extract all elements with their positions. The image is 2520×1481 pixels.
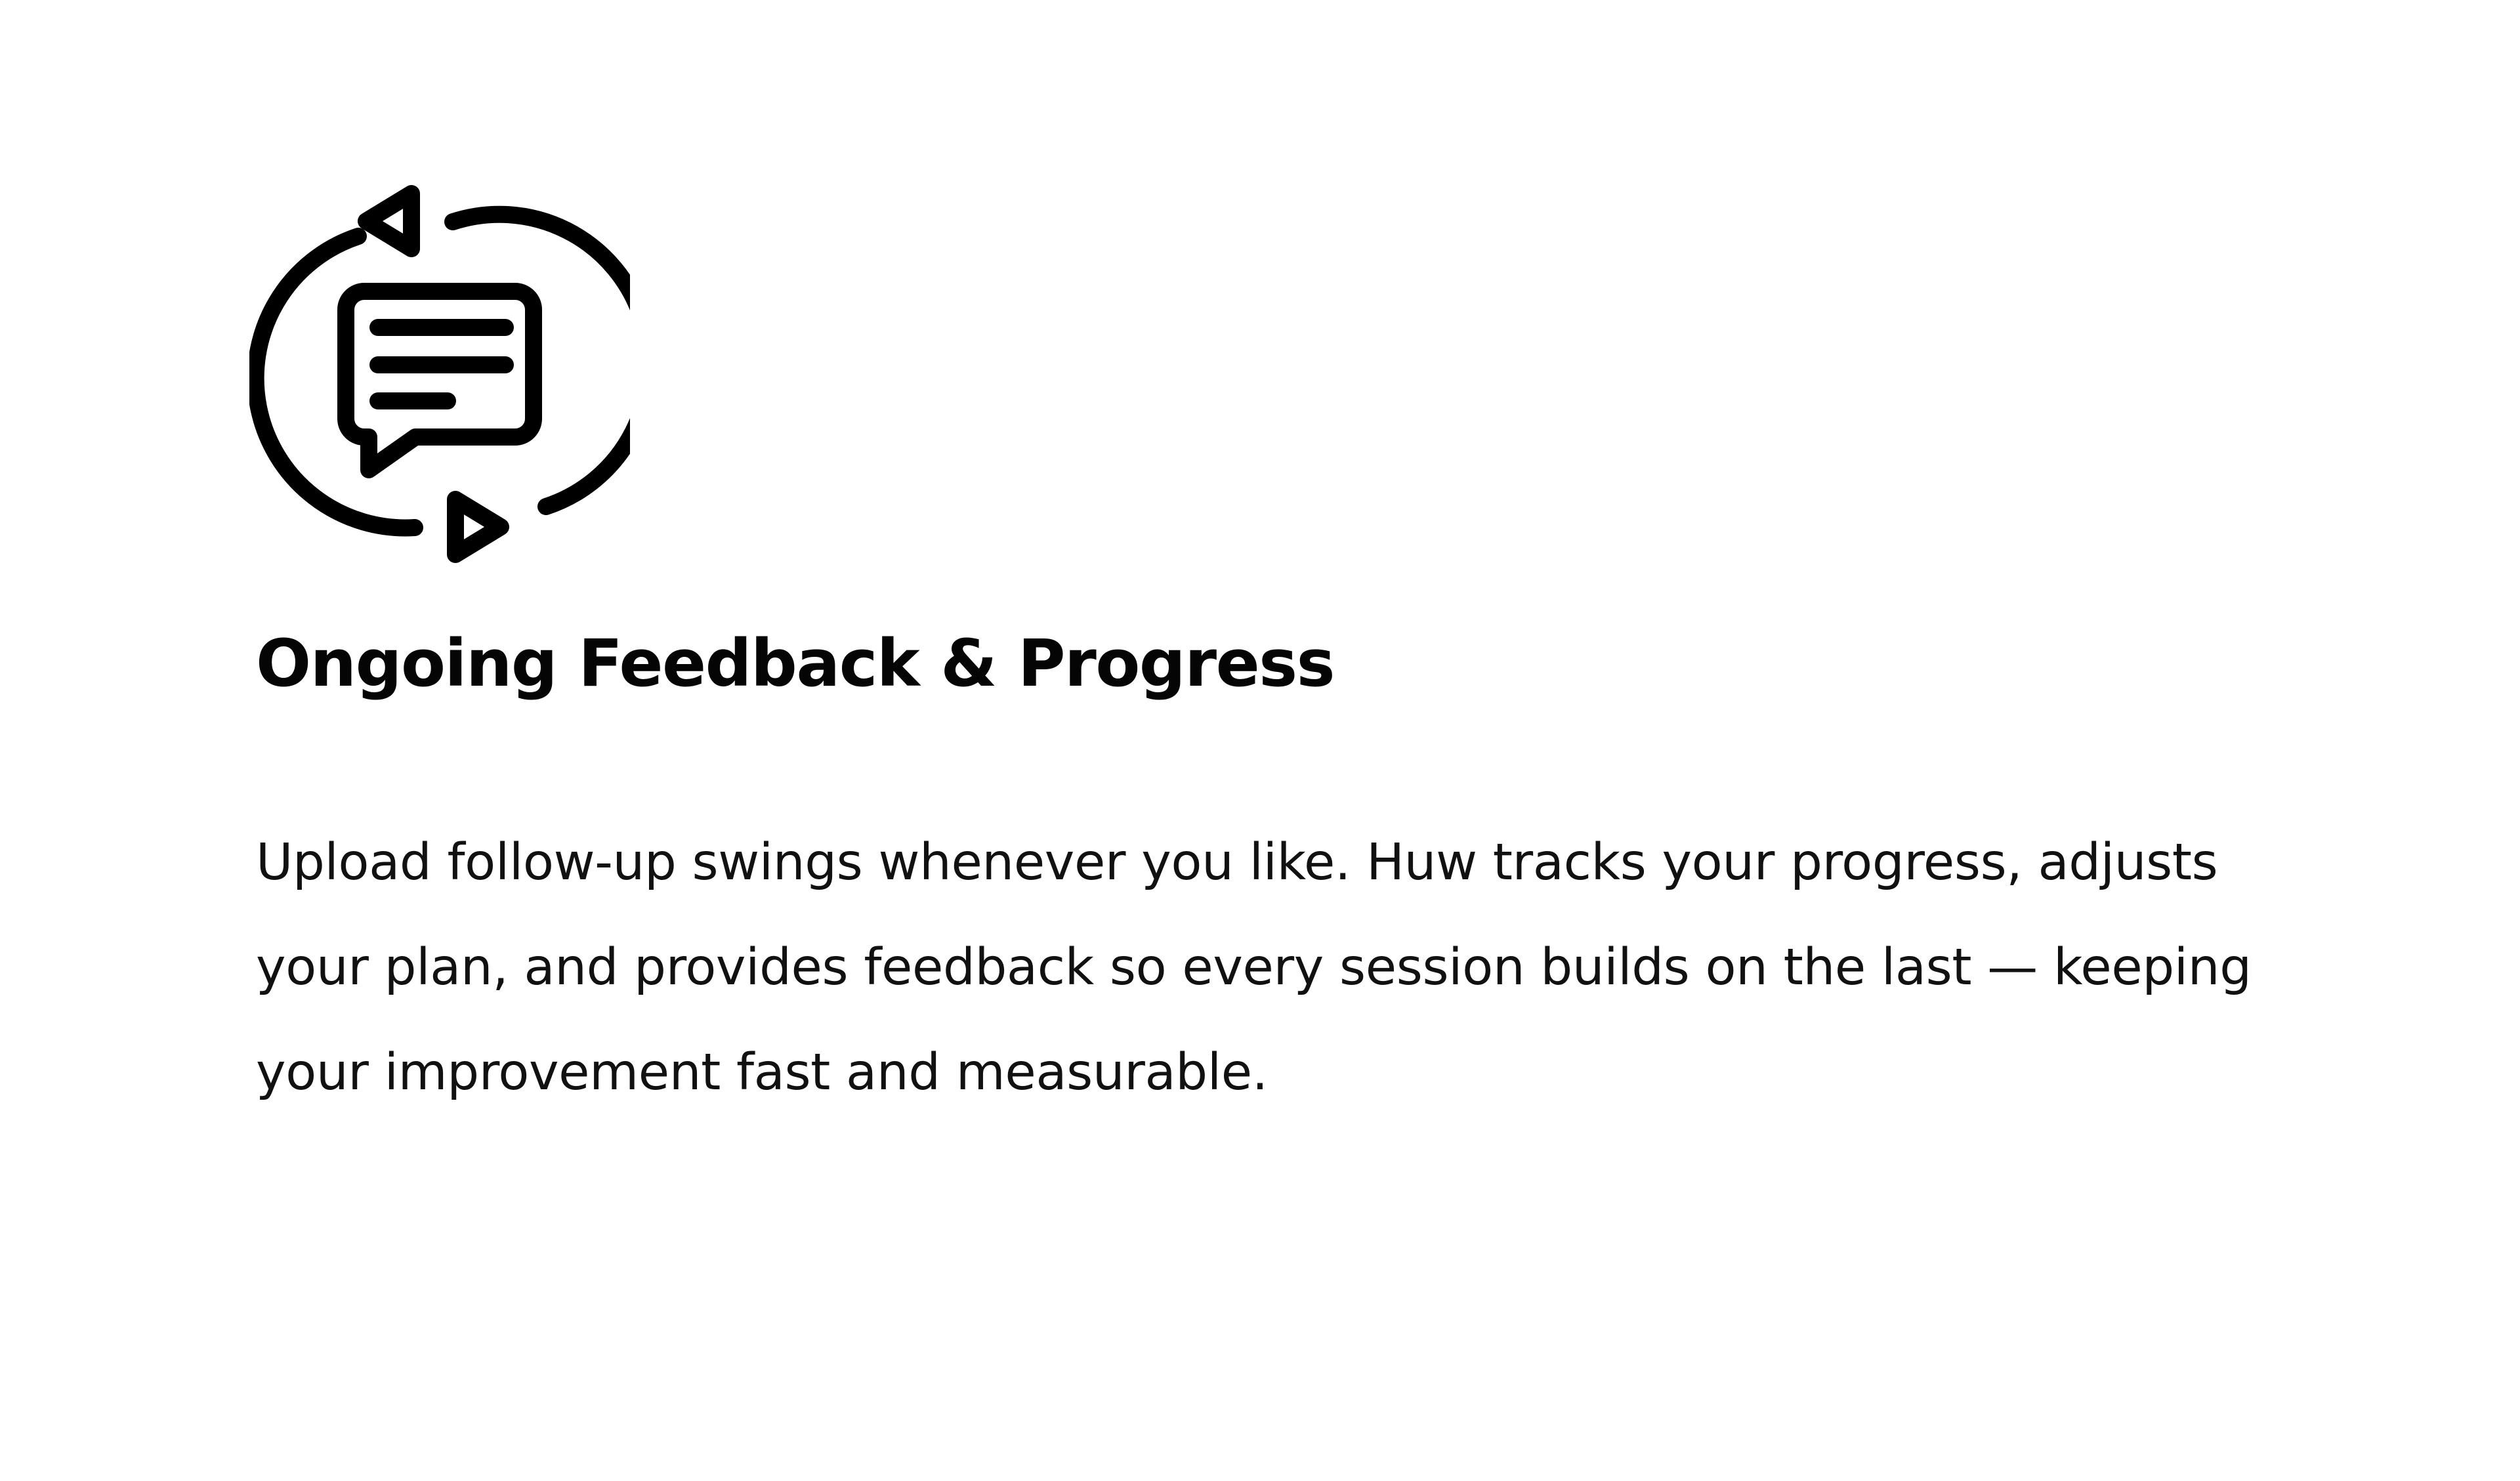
page-title: Ongoing Feedback & Progress (256, 627, 2356, 701)
card-description: Upload follow-up swings whenever you lik… (256, 810, 2271, 1125)
feedback-cycle-icon (249, 163, 630, 583)
feature-card: Ongoing Feedback & Progress Upload follo… (0, 0, 2520, 1481)
feedback-cycle-icon-graphic (249, 163, 630, 583)
cycle-arrowhead-bottom (455, 499, 501, 554)
cycle-arrowhead-top (366, 194, 411, 249)
speech-bubble-outline (346, 291, 534, 470)
cycle-arc-left (256, 236, 415, 528)
